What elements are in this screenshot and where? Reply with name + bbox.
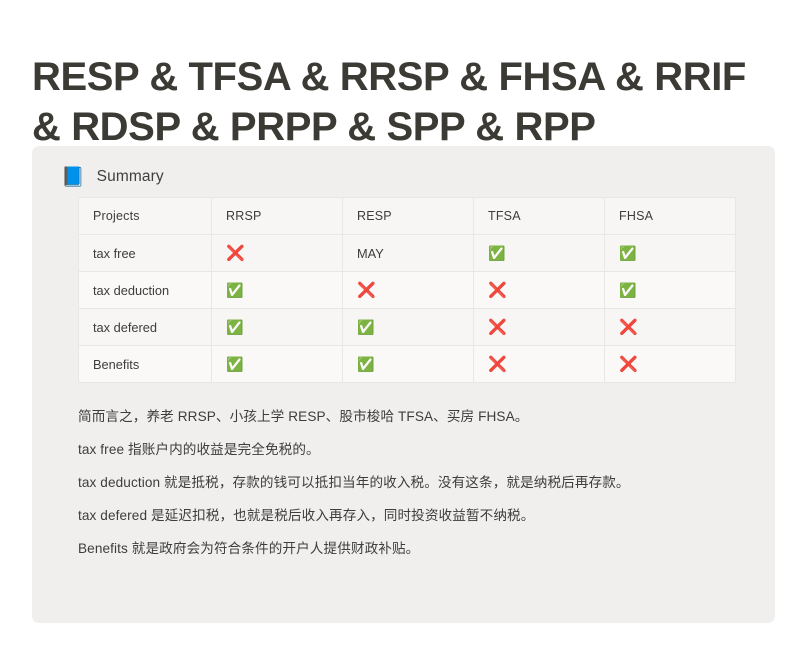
table-cell: ❌ (474, 309, 605, 346)
note-tax-free: tax free 指账户内的收益是完全免税的。 (78, 439, 738, 461)
cross-icon: ❌ (226, 246, 245, 261)
summary-panel-title: Summary (97, 168, 164, 186)
note-tax-defered: tax defered 是延迟扣税，也就是税后收入再存入，同时投资收益暂不纳税。 (78, 505, 738, 527)
summary-panel-header: 📘 Summary (52, 162, 755, 192)
table-cell: ❌ (605, 309, 736, 346)
cross-icon: ❌ (619, 357, 638, 372)
note-benefits: Benefits 就是政府会为符合条件的开户人提供财政补贴。 (78, 538, 738, 560)
table-cell: MAY (343, 235, 474, 272)
page-title: RESP & TFSA & RRSP & FHSA & RRIF & RDSP … (32, 52, 777, 153)
table-cell: ❌ (474, 272, 605, 309)
note-summary: 简而言之，养老 RRSP、小孩上学 RESP、股市梭哈 TFSA、买房 FHSA… (78, 406, 738, 428)
row-label: tax free (79, 235, 212, 272)
table-cell: ✅ (212, 309, 343, 346)
table-cell: ✅ (212, 346, 343, 383)
document-page: RESP & TFSA & RRSP & FHSA & RRIF & RDSP … (0, 0, 800, 652)
table-row: Benefits ✅ ✅ ❌ ❌ (79, 346, 736, 383)
table-row: tax free ❌ MAY ✅ ✅ (79, 235, 736, 272)
table-cell: ✅ (343, 346, 474, 383)
cross-icon: ❌ (488, 357, 507, 372)
check-icon: ✅ (226, 320, 243, 334)
row-label: tax defered (79, 309, 212, 346)
table-body: tax free ❌ MAY ✅ ✅ tax deduction ✅ ❌ ❌ ✅… (79, 235, 736, 383)
check-icon: ✅ (357, 320, 374, 334)
table-cell: ❌ (474, 346, 605, 383)
note-tax-deduction: tax deduction 就是抵税，存款的钱可以抵扣当年的收入税。没有这条，就… (78, 472, 738, 494)
cross-icon: ❌ (488, 283, 507, 298)
column-header-rrsp: RRSP (212, 198, 343, 235)
row-label: tax deduction (79, 272, 212, 309)
blue-book-icon: 📘 (61, 168, 85, 187)
check-icon: ✅ (619, 283, 636, 297)
column-header-resp: RESP (343, 198, 474, 235)
cell-text: MAY (357, 246, 384, 261)
cross-icon: ❌ (488, 320, 507, 335)
table-cell: ❌ (343, 272, 474, 309)
cross-icon: ❌ (619, 320, 638, 335)
check-icon: ✅ (226, 283, 243, 297)
table-cell: ❌ (212, 235, 343, 272)
cross-icon: ❌ (357, 283, 376, 298)
table-cell: ✅ (212, 272, 343, 309)
table-row: tax deduction ✅ ❌ ❌ ✅ (79, 272, 736, 309)
summary-table: Projects RRSP RESP TFSA FHSA tax free ❌ … (78, 197, 736, 383)
table-cell: ✅ (605, 272, 736, 309)
check-icon: ✅ (226, 357, 243, 371)
table-header-row: Projects RRSP RESP TFSA FHSA (79, 198, 736, 235)
table-cell: ✅ (343, 309, 474, 346)
table-cell: ✅ (605, 235, 736, 272)
notes-section: 简而言之，养老 RRSP、小孩上学 RESP、股市梭哈 TFSA、买房 FHSA… (78, 406, 738, 560)
column-header-projects: Projects (79, 198, 212, 235)
table-cell: ✅ (474, 235, 605, 272)
row-label: Benefits (79, 346, 212, 383)
column-header-tfsa: TFSA (474, 198, 605, 235)
check-icon: ✅ (357, 357, 374, 371)
table-header: Projects RRSP RESP TFSA FHSA (79, 198, 736, 235)
check-icon: ✅ (488, 246, 505, 260)
table-row: tax defered ✅ ✅ ❌ ❌ (79, 309, 736, 346)
check-icon: ✅ (619, 246, 636, 260)
column-header-fhsa: FHSA (605, 198, 736, 235)
table-cell: ❌ (605, 346, 736, 383)
